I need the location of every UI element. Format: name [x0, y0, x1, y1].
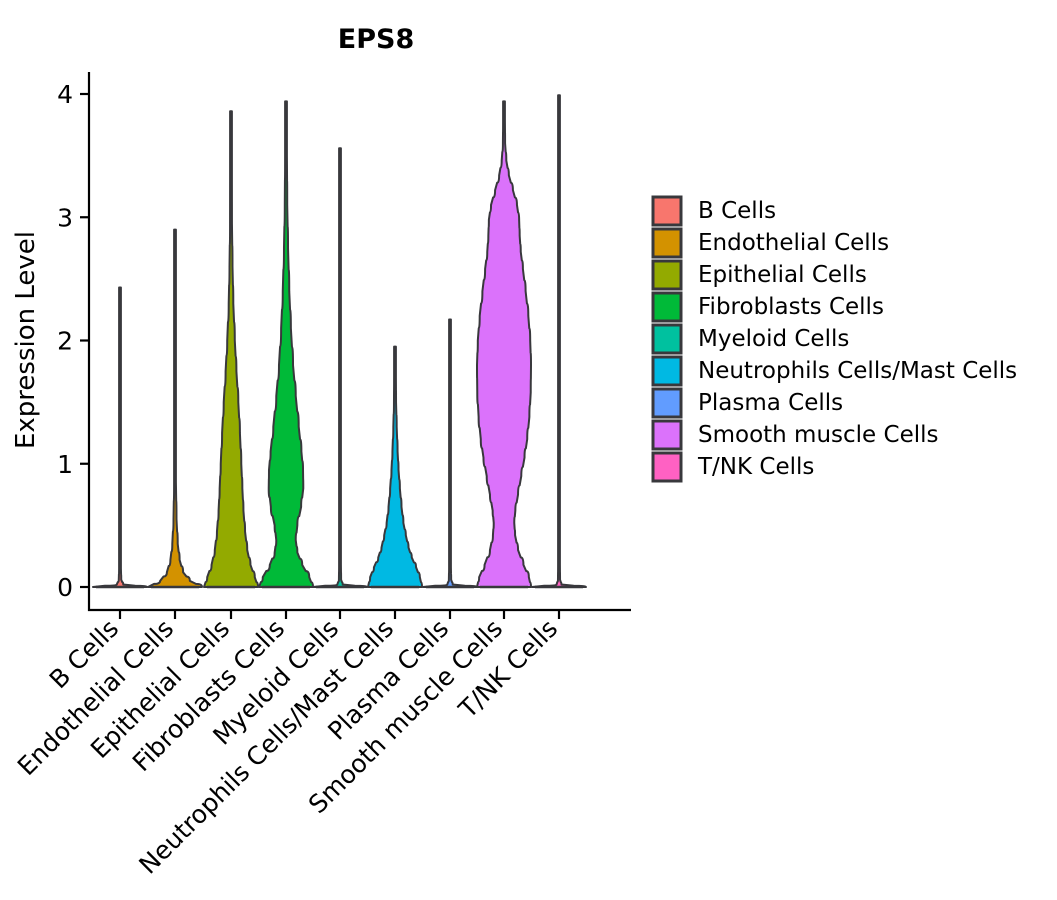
violin-endothelial-cells[interactable] — [148, 230, 202, 587]
violin-shape[interactable] — [477, 101, 531, 587]
violin-smooth-muscle-cells[interactable] — [477, 101, 531, 587]
violin-shape[interactable] — [532, 95, 586, 587]
legend-color-swatch — [653, 389, 681, 417]
violin-neutrophils-cells-mast-cells[interactable] — [368, 347, 422, 587]
violin-shape[interactable] — [93, 288, 147, 588]
legend-color-swatch — [653, 197, 681, 225]
legend-item-smooth-muscle-cells[interactable]: Smooth muscle Cells — [653, 421, 939, 449]
legend-item-label: Plasma Cells — [698, 390, 843, 416]
x-tick-labels-group: B CellsEndothelial CellsEpithelial Cells… — [12, 614, 563, 880]
y-tick-label: 4 — [57, 80, 73, 109]
legend-color-swatch — [653, 357, 681, 385]
legend-item-label: Myeloid Cells — [698, 326, 849, 352]
violin-plasma-cells[interactable] — [423, 320, 477, 587]
violin-b-cells[interactable] — [93, 288, 147, 588]
chart-legend: B CellsEndothelial CellsEpithelial Cells… — [653, 197, 1017, 481]
violin-shape[interactable] — [368, 347, 422, 587]
legend-item-epithelial-cells[interactable]: Epithelial Cells — [653, 261, 867, 289]
violin-epithelial-cells[interactable] — [204, 111, 258, 587]
y-tick-label: 3 — [57, 203, 73, 232]
violin-shape[interactable] — [204, 111, 258, 587]
legend-item-label: T/NK Cells — [697, 454, 814, 480]
violin-shape[interactable] — [259, 101, 313, 587]
legend-item-myeloid-cells[interactable]: Myeloid Cells — [653, 325, 849, 353]
legend-item-label: Fibroblasts Cells — [698, 294, 884, 320]
violin-t-nk-cells[interactable] — [532, 95, 586, 587]
axis-spines — [89, 72, 631, 610]
violin-shape[interactable] — [148, 230, 202, 587]
y-axis-title-group: Expression Level — [11, 231, 41, 449]
legend-item-label: Neutrophils Cells/Mast Cells — [698, 358, 1017, 384]
chart-title-group: EPS8 — [338, 24, 414, 55]
legend-item-b-cells[interactable]: B Cells — [653, 197, 776, 225]
legend-color-swatch — [653, 325, 681, 353]
violin-plot-figure: EPS8 Expression Level 01234 B CellsEndot… — [0, 0, 1057, 900]
page-title: EPS8 — [338, 24, 414, 55]
legend-item-t-nk-cells[interactable]: T/NK Cells — [653, 453, 814, 481]
legend-color-swatch — [653, 229, 681, 257]
legend-item-label: Smooth muscle Cells — [698, 422, 939, 448]
legend-item-label: B Cells — [698, 198, 776, 224]
legend-color-swatch — [653, 453, 681, 481]
legend-item-label: Endothelial Cells — [698, 230, 889, 256]
y-tick-label: 0 — [57, 573, 73, 602]
y-axis-title: Expression Level — [11, 231, 41, 449]
violin-shape[interactable] — [423, 320, 477, 587]
violins-group — [93, 95, 586, 587]
legend-item-neutrophils-cells-mast-cells[interactable]: Neutrophils Cells/Mast Cells — [653, 357, 1017, 385]
y-ticks-group: 01234 — [57, 80, 89, 602]
violin-fibroblasts-cells[interactable] — [259, 101, 313, 587]
y-tick-label: 2 — [57, 327, 73, 356]
x-ticks-group — [120, 610, 559, 619]
axes-group — [89, 72, 631, 610]
chart-canvas: EPS8 Expression Level 01234 B CellsEndot… — [0, 0, 1057, 900]
legend-item-fibroblasts-cells[interactable]: Fibroblasts Cells — [653, 293, 884, 321]
legend-color-swatch — [653, 261, 681, 289]
violin-shape[interactable] — [313, 148, 367, 587]
y-tick-label: 1 — [57, 450, 73, 479]
legend-item-plasma-cells[interactable]: Plasma Cells — [653, 389, 843, 417]
legend-item-label: Epithelial Cells — [698, 262, 867, 288]
violin-myeloid-cells[interactable] — [313, 148, 367, 587]
legend-color-swatch — [653, 421, 681, 449]
legend-color-swatch — [653, 293, 681, 321]
legend-item-endothelial-cells[interactable]: Endothelial Cells — [653, 229, 889, 257]
